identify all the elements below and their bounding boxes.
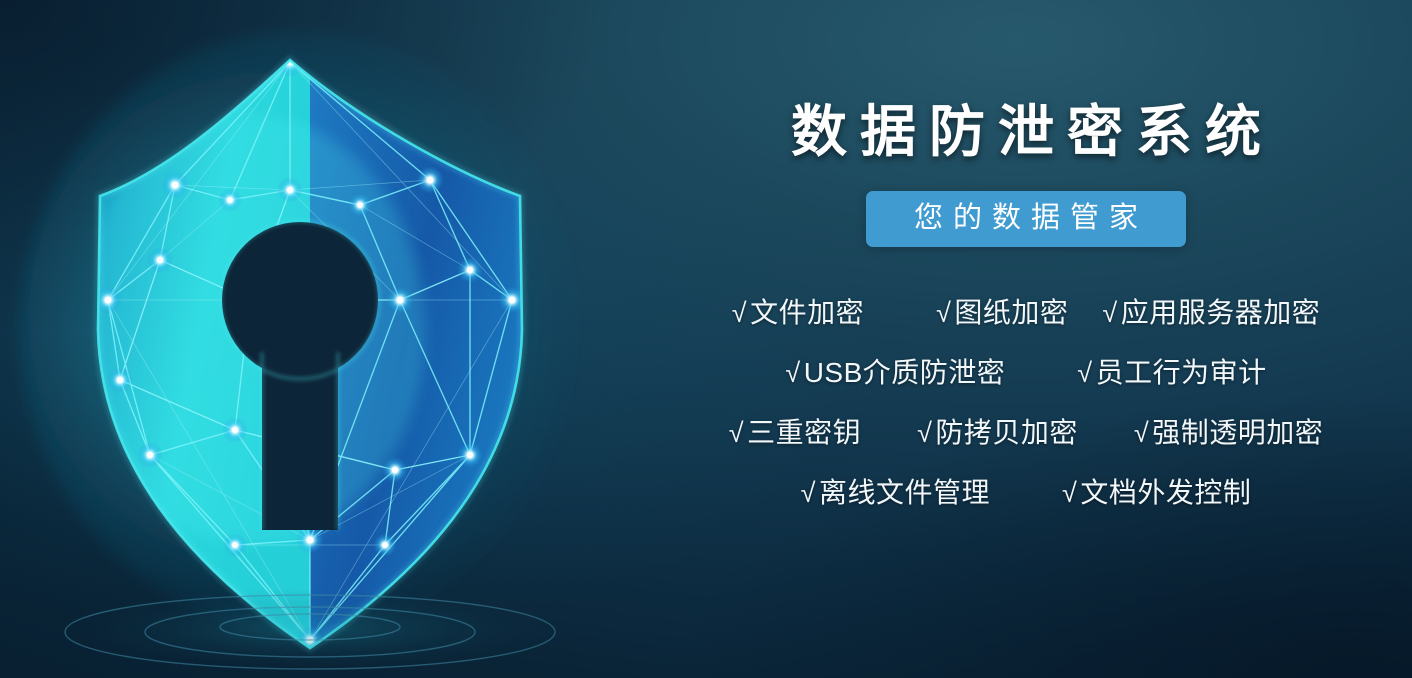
data-leak-prevention-banner: 数据防泄密系统 您的数据管家 √文件加密 √图纸加密 √应用服务器加密 √USB… <box>0 0 1412 678</box>
feature-item: √文件加密 <box>732 299 864 327</box>
feature-item: √应用服务器加密 <box>1102 299 1320 327</box>
feature-row: √文件加密 √图纸加密 √应用服务器加密 <box>732 283 1321 343</box>
feature-label: 员工行为审计 <box>1096 359 1267 387</box>
feature-row: √USB介质防泄密 √员工行为审计 <box>785 343 1266 403</box>
shield-lock-illustration <box>0 0 620 678</box>
feature-item: √员工行为审计 <box>1077 359 1266 387</box>
feature-label: 文档外发控制 <box>1080 479 1251 507</box>
feature-row: √三重密钥 √防拷贝加密 √强制透明加密 <box>729 403 1324 463</box>
feature-item: √三重密钥 <box>729 419 861 447</box>
feature-label: 应用服务器加密 <box>1121 299 1321 327</box>
feature-item: √离线文件管理 <box>801 479 990 507</box>
subtitle-badge: 您的数据管家 <box>866 191 1186 247</box>
check-icon: √ <box>1077 360 1092 387</box>
feature-item: √强制透明加密 <box>1134 419 1323 447</box>
page-title: 数据防泄密系统 <box>778 104 1274 160</box>
check-icon: √ <box>1134 420 1149 447</box>
check-icon: √ <box>936 300 951 327</box>
feature-label: 文件加密 <box>750 299 864 327</box>
check-icon: √ <box>917 420 932 447</box>
feature-label: USB介质防泄密 <box>804 359 1006 387</box>
check-icon: √ <box>785 360 800 387</box>
feature-item: √图纸加密 <box>936 299 1068 327</box>
feature-label: 防拷贝加密 <box>935 419 1078 447</box>
feature-label: 强制透明加密 <box>1152 419 1323 447</box>
feature-label: 图纸加密 <box>954 299 1068 327</box>
feature-item: √防拷贝加密 <box>917 419 1078 447</box>
check-icon: √ <box>1062 480 1077 507</box>
feature-item: √文档外发控制 <box>1062 479 1251 507</box>
feature-label: 离线文件管理 <box>819 479 990 507</box>
check-icon: √ <box>1102 300 1117 327</box>
feature-list: √文件加密 √图纸加密 √应用服务器加密 √USB介质防泄密 √员工行为审计 √… <box>640 283 1412 523</box>
check-icon: √ <box>729 420 744 447</box>
feature-item: √USB介质防泄密 <box>785 359 1005 387</box>
feature-label: 三重密钥 <box>747 419 861 447</box>
hero-content: 数据防泄密系统 您的数据管家 √文件加密 √图纸加密 √应用服务器加密 √USB… <box>640 0 1412 678</box>
check-icon: √ <box>801 480 816 507</box>
feature-row: √离线文件管理 √文档外发控制 <box>801 463 1252 523</box>
check-icon: √ <box>732 300 747 327</box>
